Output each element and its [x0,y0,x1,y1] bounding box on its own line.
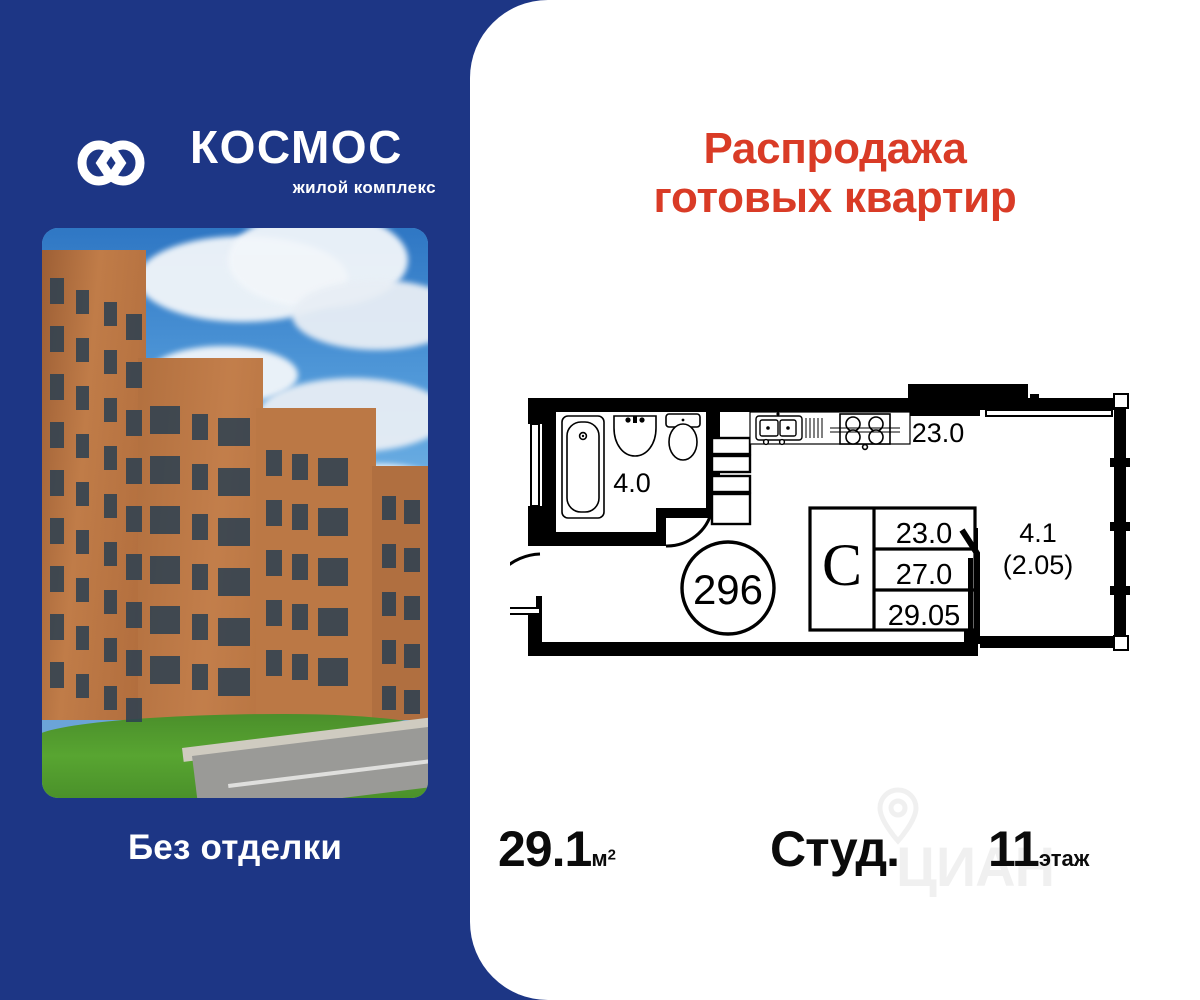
right-content-panel: Распродажа готовых квартир ЦИАН [470,0,1200,1000]
balcony-area-label: 4.1 [1019,518,1057,548]
residential-complex-photo [42,228,428,798]
washbasin-icon [614,416,656,456]
wardrobe-icon [712,438,750,524]
area-value: 29.1 [498,821,591,877]
bathtub-icon [562,416,604,518]
balcony-area-reduced-label: (2.05) [1003,550,1074,580]
apartment-stats: 29.1м2 Студ. 11этаж [470,812,1200,892]
floor-plan: 4.0 [510,380,1170,670]
stat-floor: 11этаж [988,820,1089,878]
page-title: Распродажа готовых квартир [470,124,1200,223]
apartment-number: 296 [693,566,763,613]
floor-label: этаж [1039,846,1089,871]
legend-type-code: С [822,532,862,598]
bathroom-area-label: 4.0 [613,468,651,498]
legend-row-1: 23.0 [896,518,952,550]
legend-row-3: 29.05 [888,600,961,632]
headline-line-1: Распродажа [470,124,1200,173]
brand-wordmark: КОСМОС [190,124,440,170]
floor-value: 11 [988,821,1039,877]
balcony: 4.1 (2.05) [980,394,1130,650]
headline-line-2: готовых квартир [470,173,1200,222]
stat-area: 29.1м2 [498,820,616,878]
brand-subtitle: жилой комплекс [190,178,440,198]
stove-icon [830,414,900,449]
area-unit-exponent: 2 [608,847,616,864]
infinity-icon [52,132,170,194]
building-windows [42,228,428,798]
brand-logo-text: КОСМОС жилой комплекс [190,124,440,198]
area-unit: м [591,846,607,871]
toilet-icon [666,414,700,460]
living-area-label: 23.0 [912,418,965,448]
legend-row-2: 27.0 [896,559,952,591]
rooms-value: Студ. [770,821,899,877]
apartment-number-badge: 296 [682,542,774,634]
finish-type-caption: Без отделки [0,828,470,868]
stat-rooms: Студ. [770,820,899,878]
brand-logo: КОСМОС жилой комплекс [52,122,442,212]
left-brand-panel: КОСМОС жилой комплекс [0,0,470,1000]
plan-legend-table: С 23.0 27.0 29.05 [810,508,975,632]
